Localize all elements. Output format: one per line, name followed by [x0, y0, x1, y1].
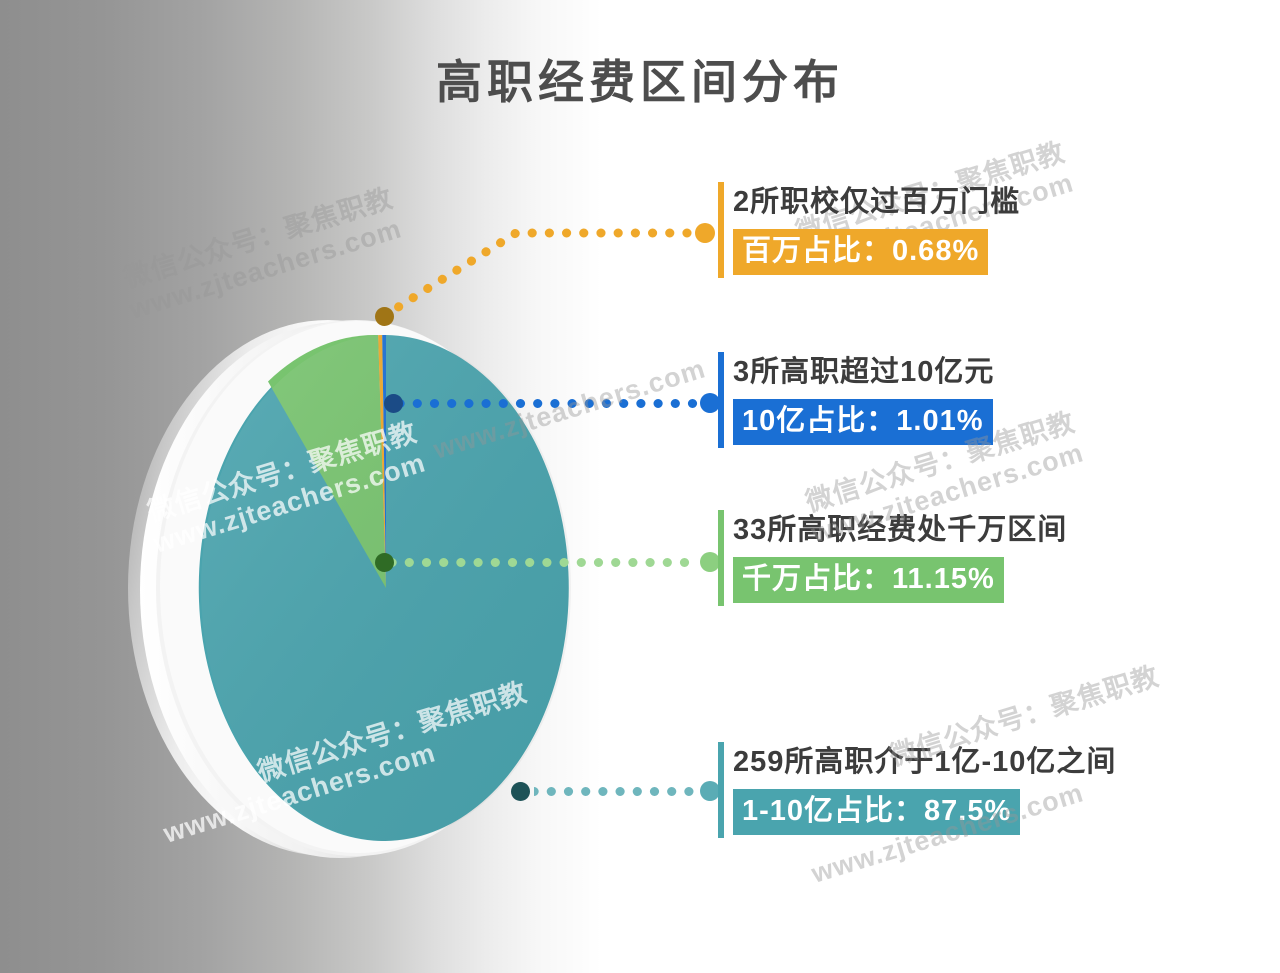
watermark-cn: 微信公众号：聚焦职教	[118, 176, 397, 295]
legend-pill-ten-million: 千万占比：11.15%	[733, 557, 1004, 603]
pie-slices	[199, 335, 571, 841]
legend-heading-million: 2所职校仅过百万门槛	[733, 182, 1020, 222]
legend-pill-billion: 10亿占比：1.01%	[733, 399, 993, 445]
legend-pill-one-to-ten-billion: 1-10亿占比：87.5%	[733, 789, 1020, 835]
leader-dot-end-billion	[700, 393, 720, 413]
legend-rule-billion	[718, 352, 724, 448]
leader-dot-end-ten-million	[700, 552, 720, 572]
legend-item-ten-million[interactable]: 33所高职经费处千万区间 千万占比：11.15%	[718, 510, 1067, 606]
legend-item-million[interactable]: 2所职校仅过百万门槛 百万占比：0.68%	[718, 182, 1020, 278]
pie-chart-svg	[118, 288, 588, 898]
legend-heading-ten-million: 33所高职经费处千万区间	[733, 510, 1067, 550]
infographic-canvas: 微信公众号：聚焦职教 www.zjteachers.com 微信公众号：聚焦职教…	[0, 0, 1280, 973]
legend-rule-one-to-ten-billion	[718, 742, 724, 838]
leader-dot-origin-billion	[384, 394, 403, 413]
legend-heading-one-to-ten-billion: 259所高职介于1亿-10亿之间	[733, 742, 1116, 782]
page-title: 高职经费区间分布	[0, 46, 1280, 112]
leader-dot-end-million	[695, 223, 715, 243]
legend-item-billion[interactable]: 3所高职超过10亿元 10亿占比：1.01%	[718, 352, 994, 448]
leader-dot-origin-ten-million	[375, 553, 394, 572]
legend-pill-million: 百万占比：0.68%	[733, 229, 988, 275]
pie-chart	[118, 288, 588, 898]
legend-rule-million	[718, 182, 724, 278]
leader-dot-origin-one-to-ten-billion	[511, 782, 530, 801]
legend-heading-billion: 3所高职超过10亿元	[733, 352, 994, 392]
legend-item-one-to-ten-billion[interactable]: 259所高职介于1亿-10亿之间 1-10亿占比：87.5%	[718, 742, 1116, 838]
leader-dot-end-one-to-ten-billion	[700, 781, 720, 801]
legend-rule-ten-million	[718, 510, 724, 606]
